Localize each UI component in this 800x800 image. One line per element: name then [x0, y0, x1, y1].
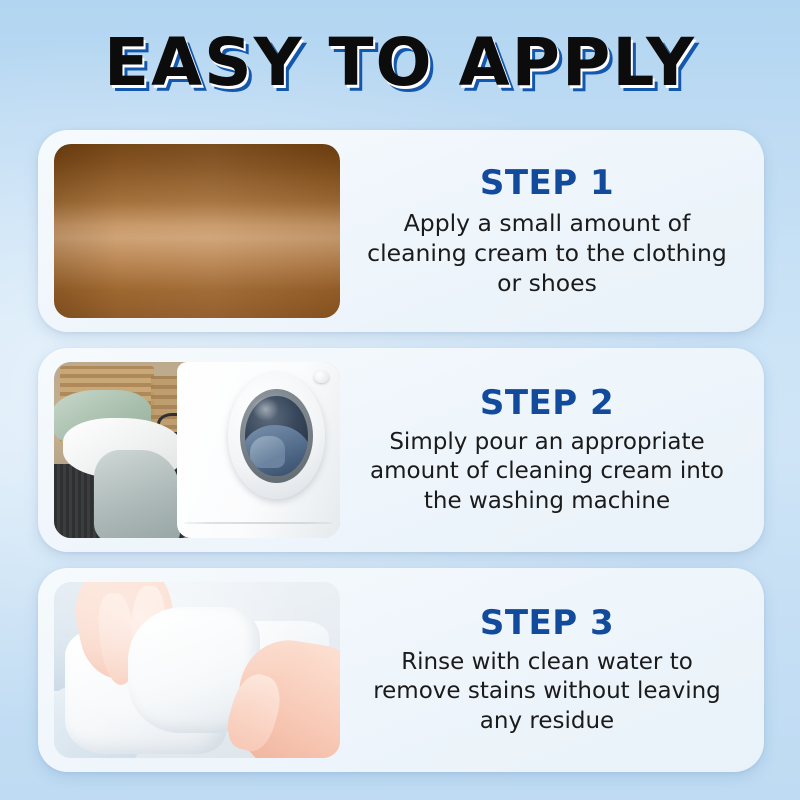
step-card-2: STEP 2 Simply pour an appropriate amount… — [38, 348, 764, 552]
clothes-inside-drum-fold — [250, 436, 284, 468]
washer-body — [177, 362, 340, 538]
image-highlight — [54, 582, 340, 758]
washer-door-inner-rim — [240, 389, 312, 483]
step-2-copy: STEP 2 Simply pour an appropriate amount… — [340, 384, 748, 516]
step-card-1: STEP 1 Apply a small amount of cleaning … — [38, 130, 764, 332]
leather-cream-swatch-image — [54, 144, 340, 318]
glass-reflection — [252, 397, 279, 421]
step-2-heading: STEP 2 — [358, 384, 736, 422]
page-title-area: EASY TO APPLY EASY TO APPLY EASY TO APPL… — [0, 22, 800, 104]
step-2-description: Simply pour an appropriate amount of cle… — [358, 428, 736, 516]
hands-rinsing-fabric-image — [54, 582, 340, 758]
step-1-heading: STEP 1 — [358, 164, 736, 202]
step-1-copy: STEP 1 Apply a small amount of cleaning … — [340, 164, 748, 298]
washing-machine-image — [54, 362, 340, 538]
promo-page: EASY TO APPLY EASY TO APPLY EASY TO APPL… — [0, 0, 800, 800]
page-title: EASY TO APPLY EASY TO APPLY EASY TO APPL… — [104, 30, 696, 96]
washer-door-rim — [228, 373, 326, 500]
washer-knob — [314, 371, 329, 383]
step-3-copy: STEP 3 Rinse with clean water to remove … — [340, 604, 748, 736]
step-1-description: Apply a small amount of cleaning cream t… — [358, 208, 736, 298]
grey-garment — [94, 450, 180, 538]
page-title-text: EASY TO APPLY — [104, 24, 696, 101]
step-3-heading: STEP 3 — [358, 604, 736, 642]
steps-list: STEP 1 Apply a small amount of cleaning … — [38, 130, 764, 772]
step-card-3: STEP 3 Rinse with clean water to remove … — [38, 568, 764, 772]
step-3-description: Rinse with clean water to remove stains … — [358, 648, 736, 736]
